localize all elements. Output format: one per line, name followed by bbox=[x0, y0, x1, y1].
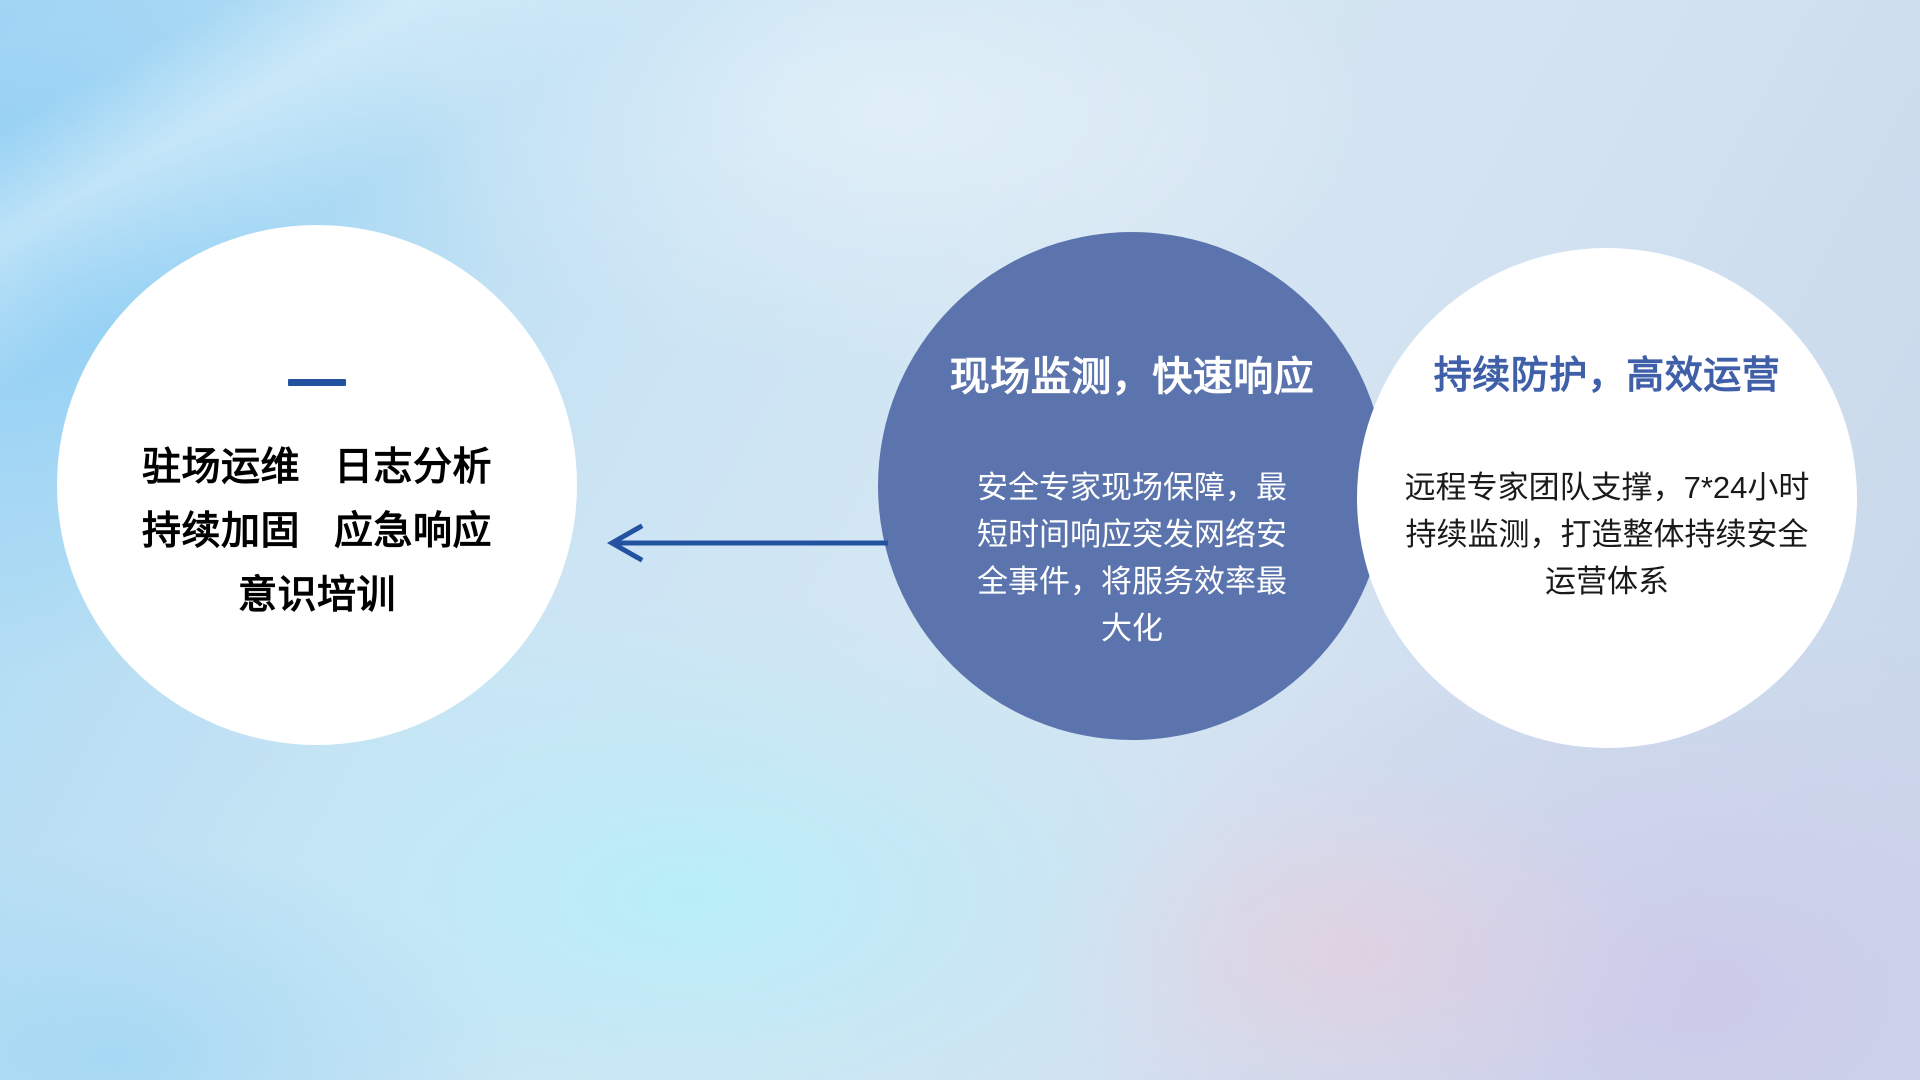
continuous-protection-title: 持续防护，高效运营 bbox=[1434, 344, 1781, 399]
onsite-monitoring-body: 安全专家现场保障，最短时间响应突发网络安全事件，将服务效率最大化 bbox=[967, 464, 1297, 652]
capability-circle: 驻场运维 日志分析 持续加固 应急响应 意识培训 bbox=[57, 225, 577, 745]
continuous-protection-circle: 持续防护，高效运营 远程专家团队支撑，7*24小时持续监测，打造整体持续安全运营… bbox=[1357, 248, 1857, 748]
accent-divider bbox=[288, 379, 346, 386]
slide-canvas: 驻场运维 日志分析 持续加固 应急响应 意识培训 现场监测，快速响应 安全专家现… bbox=[0, 0, 1920, 1080]
capability-line-2: 持续加固 应急响应 bbox=[142, 511, 492, 553]
onsite-monitoring-circle: 现场监测，快速响应 安全专家现场保障，最短时间响应突发网络安全事件，将服务效率最… bbox=[878, 232, 1386, 740]
flow-arrow-left bbox=[600, 515, 890, 571]
onsite-monitoring-title: 现场监测，快速响应 bbox=[950, 344, 1315, 402]
capability-line-3: 意识培训 bbox=[238, 575, 396, 617]
continuous-protection-body: 远程专家团队支撑，7*24小时持续监测，打造整体持续安全运营体系 bbox=[1392, 464, 1822, 605]
capability-line-1: 驻场运维 日志分析 bbox=[142, 447, 492, 489]
capability-list: 驻场运维 日志分析 持续加固 应急响应 意识培训 bbox=[142, 447, 492, 617]
